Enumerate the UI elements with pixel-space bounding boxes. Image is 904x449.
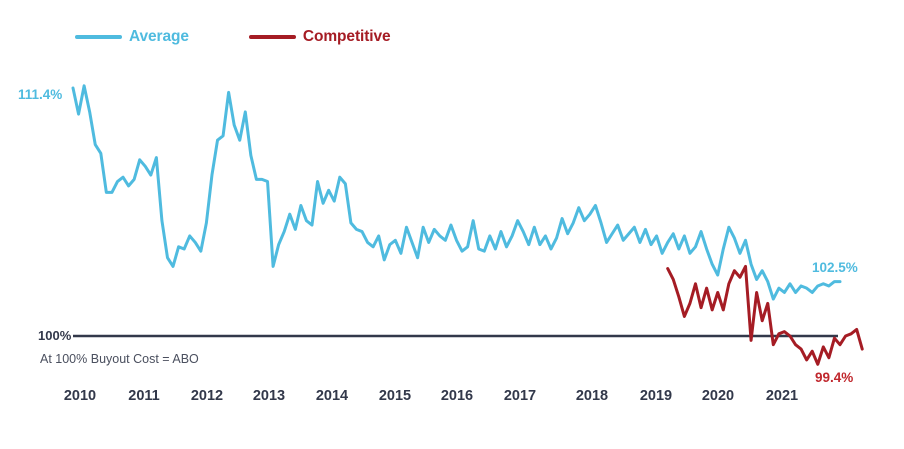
buyout-cost-chart: Average Competitive 111.4% 102.5% 99.4% … <box>0 0 904 449</box>
x-tick-2011: 2011 <box>128 388 159 404</box>
annotation-competitive-end-value: 99.4% <box>815 370 853 385</box>
x-tick-2020: 2020 <box>702 388 734 404</box>
annotation-average-end-value: 102.5% <box>812 260 858 275</box>
baseline-axis-label: 100% <box>38 328 71 343</box>
x-tick-2019: 2019 <box>640 388 672 404</box>
series-line-average <box>73 86 840 299</box>
x-tick-2014: 2014 <box>316 388 348 404</box>
x-tick-2010: 2010 <box>64 388 96 404</box>
plot-area <box>0 0 904 449</box>
x-tick-2012: 2012 <box>191 388 223 404</box>
annotation-average-start-value: 111.4% <box>18 87 62 102</box>
x-axis-year-labels: 2010201120122013201420152016201720182019… <box>0 388 904 408</box>
x-tick-2016: 2016 <box>441 388 473 404</box>
x-tick-2018: 2018 <box>576 388 608 404</box>
x-tick-2017: 2017 <box>504 388 536 404</box>
x-tick-2013: 2013 <box>253 388 285 404</box>
baseline-note: At 100% Buyout Cost = ABO <box>40 352 199 366</box>
x-tick-2021: 2021 <box>766 388 798 404</box>
x-tick-2015: 2015 <box>379 388 411 404</box>
